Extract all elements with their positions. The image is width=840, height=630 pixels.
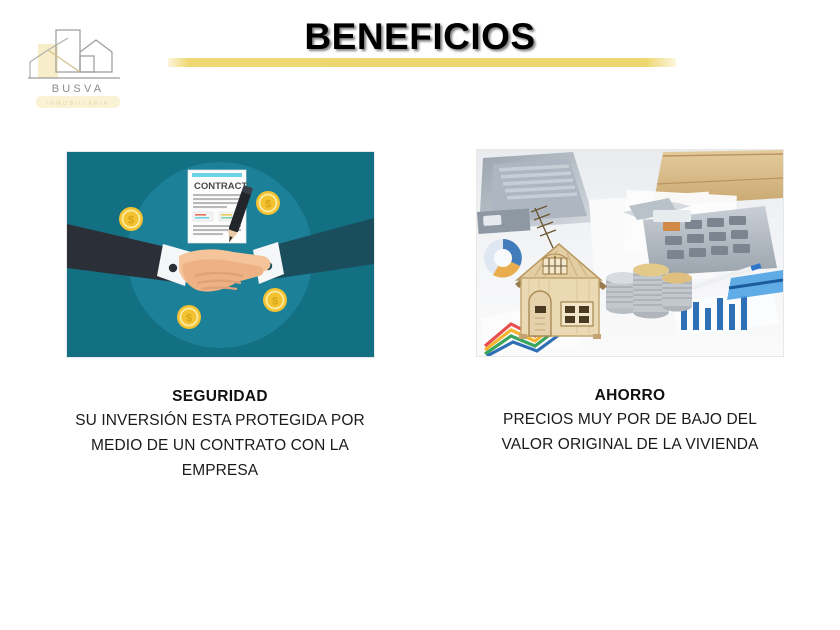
coin-icon-2: $ bbox=[256, 191, 280, 215]
title-underline-bar bbox=[168, 58, 676, 67]
benefit-body-line: EMPRESA bbox=[22, 458, 418, 483]
handshake-contract-graphic: CONTRACT bbox=[67, 152, 374, 357]
logo-brand-text: BUSVA bbox=[52, 83, 104, 95]
benefit-caption-seguridad: SEGURIDAD SU INVERSIÓN ESTA PROTEGIDA PO… bbox=[22, 385, 418, 484]
svg-text:$: $ bbox=[127, 215, 133, 227]
svg-text:$: $ bbox=[185, 313, 191, 325]
benefit-title: SEGURIDAD bbox=[22, 385, 418, 408]
benefit-body-line: PRECIOS MUY POR DE BAJO DEL bbox=[442, 407, 818, 432]
coin-icon-1: $ bbox=[119, 207, 143, 231]
slide: BUSVA INMOBILIARIA BENEFICIOS CONTRACT bbox=[0, 0, 840, 630]
benefit-card-ahorro: AHORRO PRECIOS MUY POR DE BAJO DEL VALOR… bbox=[442, 150, 818, 457]
benefit-title: AHORRO bbox=[442, 384, 818, 407]
benefit-body: PRECIOS MUY POR DE BAJO DEL VALOR ORIGIN… bbox=[442, 407, 818, 457]
benefit-body-line: SU INVERSIÓN ESTA PROTEGIDA POR bbox=[22, 408, 418, 433]
benefit-body-line: MEDIO DE UN CONTRATO CON LA bbox=[22, 433, 418, 458]
house-model-coins-calculator-photo bbox=[477, 150, 783, 356]
benefit-body: SU INVERSIÓN ESTA PROTEGIDA POR MEDIO DE… bbox=[22, 408, 418, 483]
benefit-body-line: VALOR ORIGINAL DE LA VIVIENDA bbox=[442, 432, 818, 457]
benefit-caption-ahorro: AHORRO PRECIOS MUY POR DE BAJO DEL VALOR… bbox=[442, 384, 818, 457]
coin-icon-3: $ bbox=[177, 305, 201, 329]
handshake-contract-illustration: CONTRACT bbox=[67, 152, 374, 357]
house-finance-photo-graphic bbox=[477, 150, 783, 356]
logo-tagline-text: INMOBILIARIA bbox=[46, 101, 109, 107]
svg-text:$: $ bbox=[271, 296, 277, 308]
benefit-card-seguridad: CONTRACT bbox=[22, 150, 418, 484]
contract-label: CONTRACT bbox=[194, 181, 247, 192]
page-title: BENEFICIOS bbox=[0, 16, 840, 58]
svg-text:$: $ bbox=[264, 199, 270, 211]
coin-icon-4: $ bbox=[263, 288, 287, 312]
